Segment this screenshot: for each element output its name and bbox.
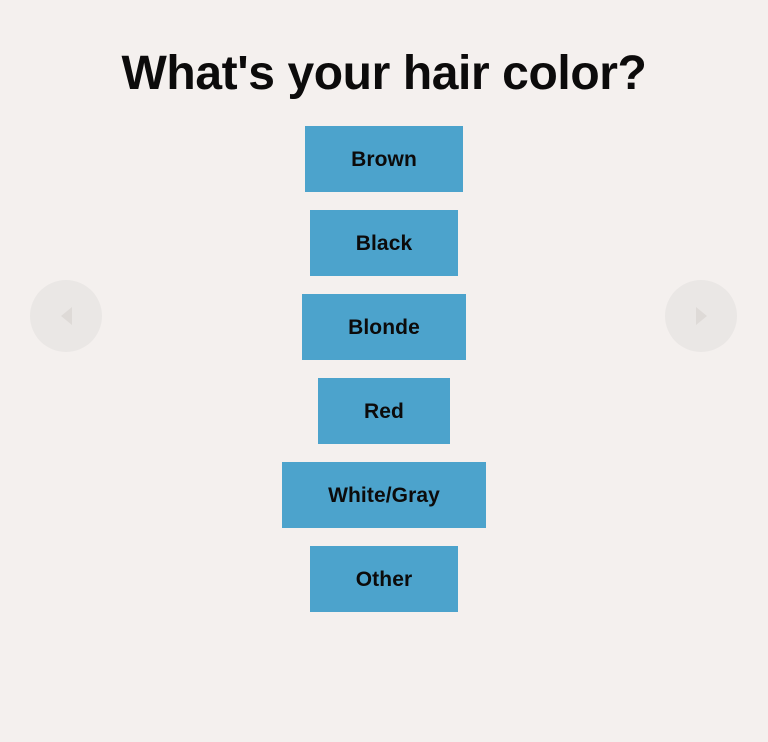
next-question-button[interactable]	[665, 280, 737, 352]
chevron-left-icon	[61, 307, 72, 325]
chevron-right-icon	[696, 307, 707, 325]
answer-option-black[interactable]: Black	[310, 210, 459, 276]
answer-options-list: Brown Black Blonde Red White/Gray Other	[0, 126, 768, 612]
prev-question-button[interactable]	[30, 280, 102, 352]
survey-screen: What's your hair color? Brown Black Blon…	[0, 0, 768, 742]
answer-option-red[interactable]: Red	[318, 378, 450, 444]
answer-option-brown[interactable]: Brown	[305, 126, 463, 192]
answer-option-white-gray[interactable]: White/Gray	[282, 462, 486, 528]
answer-option-blonde[interactable]: Blonde	[302, 294, 466, 360]
page-title: What's your hair color?	[0, 44, 768, 104]
answer-option-other[interactable]: Other	[310, 546, 459, 612]
